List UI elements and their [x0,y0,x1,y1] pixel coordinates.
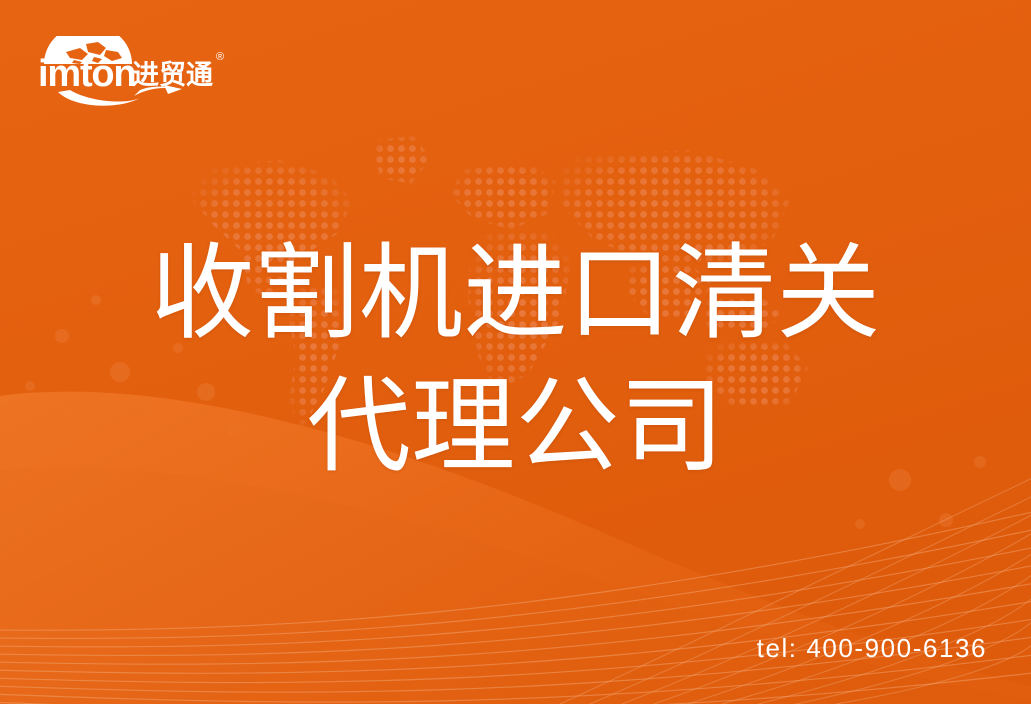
banner-canvas: imton 进贸通 ® 收割机进口清关 代理公司 tel: 400-900-61… [0,0,1031,704]
contact-telephone[interactable]: tel: 400-900-6136 [757,633,987,664]
page-title-line-2: 代理公司 [0,361,1031,494]
page-title-line-1: 收割机进口清关 [0,228,1031,361]
page-title: 收割机进口清关 代理公司 [0,228,1031,494]
logo-chinese-name: 进贸通 [132,60,213,91]
registered-trademark-icon: ® [216,51,224,63]
brand-logo[interactable]: imton 进贸通 ® [36,28,246,106]
logo-wordmark: imton [38,53,135,95]
